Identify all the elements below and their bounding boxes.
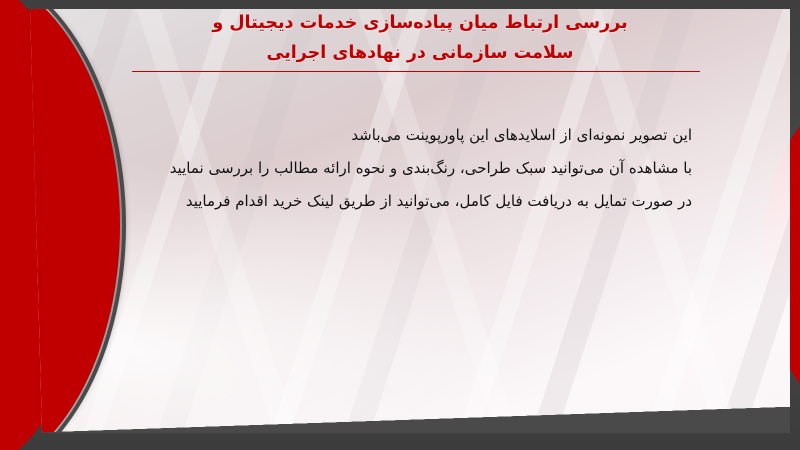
body-line-2: با مشاهده آن می‌توانید سبک طراحی، رنگ‌بن… — [132, 152, 692, 185]
body-line-3: در صورت تمایل به دریافت فایل کامل، می‌تو… — [132, 185, 692, 218]
slide-title-line-1: بررسی ارتباط میان پیاده‌سازی خدمات دیجیت… — [140, 8, 700, 38]
body-line-1: این تصویر نمونه‌ای از اسلایدهای این پاور… — [132, 119, 692, 152]
panel-gradient-background — [30, 9, 790, 433]
panel-bottom-slant-edge — [30, 407, 790, 433]
title-underline-rule — [132, 71, 700, 72]
slide-title-line-2: سلامت سازمانی در نهادهای اجرایی — [140, 38, 700, 68]
slide-title: بررسی ارتباط میان پیاده‌سازی خدمات دیجیت… — [140, 8, 700, 68]
presentation-slide: بررسی ارتباط میان پیاده‌سازی خدمات دیجیت… — [0, 0, 800, 450]
slide-body-text: این تصویر نمونه‌ای از اسلایدهای این پاور… — [132, 119, 692, 218]
slide-content-panel — [30, 9, 790, 433]
